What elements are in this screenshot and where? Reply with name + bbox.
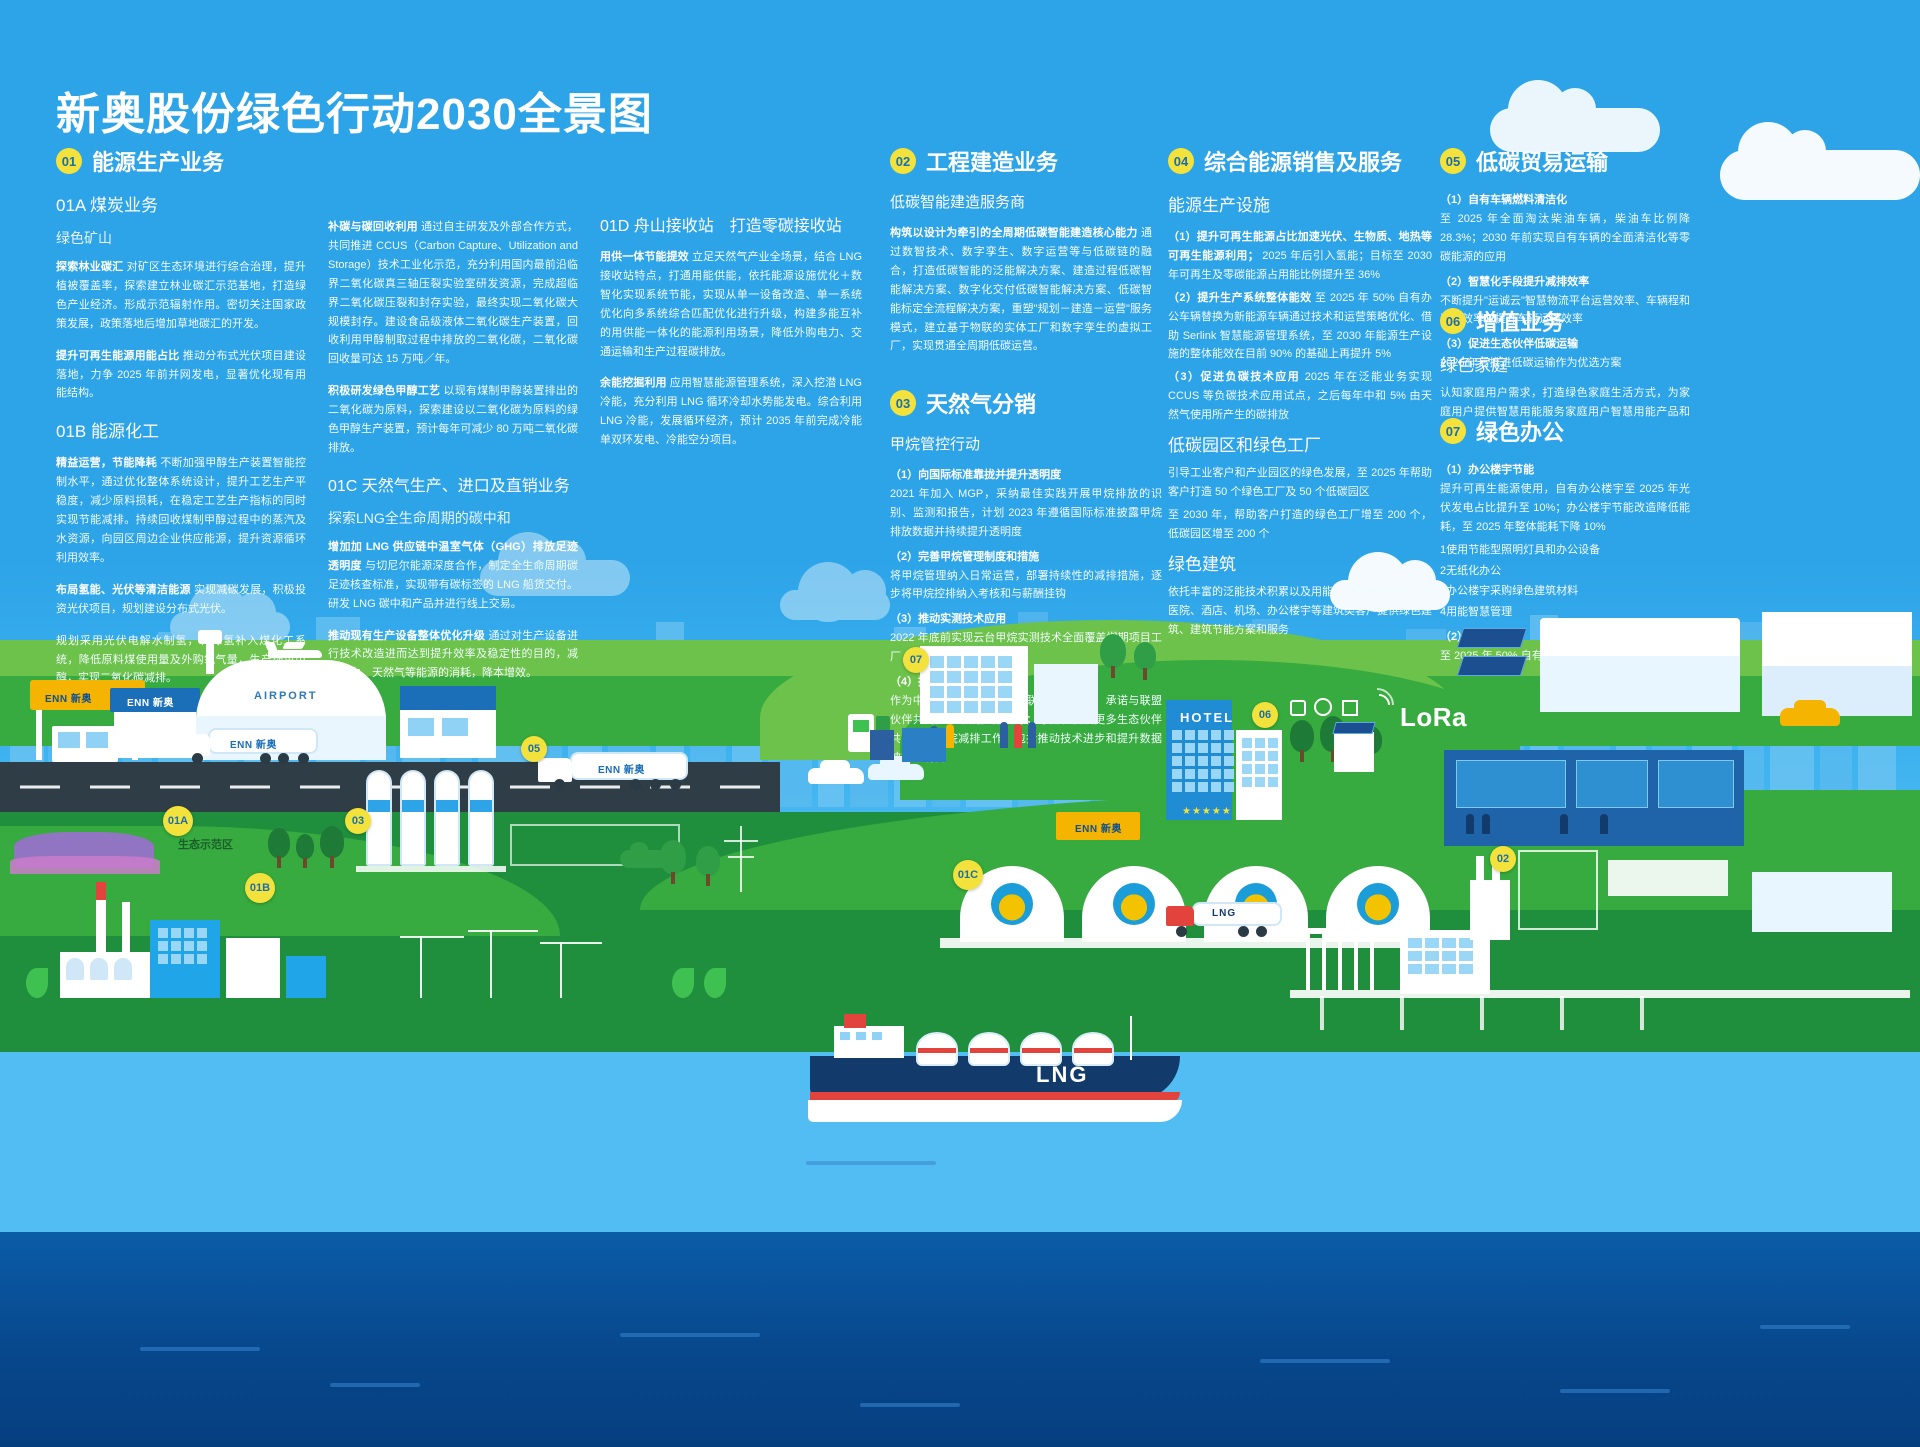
paragraph-lead: 积极研发绿色甲醇工艺 [328,385,440,397]
section-04-header: 04 综合能源销售及服务 [1168,145,1432,177]
truck-enn-logo: ENN 新奥 [230,736,277,751]
paragraph-body: 将甲烷管理纳入日常运营，部署持续性的减排措施，逐步将甲烷控排纳入考核和与薪酬挂钩 [890,570,1162,601]
canopy-post [36,710,42,760]
block-01a-title: 01A 煤炭业务 [56,191,306,216]
paragraph-lead: 余能挖掘利用 [600,377,667,389]
industrial-block [1752,872,1892,932]
paragraph-lead: （1）向国际标准靠拢并提升透明度 [890,469,1061,481]
paragraph: 增加加 LNG 供应链中温室气体（GHG）排放足迹透明度 与切尼尔能源深度合作，… [328,538,578,614]
section-05-badge: 05 [1440,148,1466,174]
infographic-canvas: 新奥股份绿色行动2030全景图 01 能源生产业务 01A 煤炭业务 绿色矿山 … [0,0,1920,1447]
paragraph-lead: 推动现有生产设备整体优化升级 [328,630,485,642]
airplane-fuselage [268,650,322,658]
hedge-top [630,842,648,856]
section-04-sub-1: 能源生产设施 [1168,191,1432,216]
section-03-badge: 03 [890,390,916,416]
dashboard-screen [1658,760,1734,808]
paragraph: （1）自有车辆燃料清洁化至 2025 年全面淘汰柴油车辆，柴油车比例降 28.3… [1440,191,1690,267]
paragraph-lead: （2）提升生产系统整体能效 [1168,292,1312,304]
car [808,768,864,784]
paragraph-body: 3办公楼宇采购绿色建筑材料 [1440,585,1578,597]
paragraph: 至 2030 年，帮助客户打造的绿色工厂增至 200 个，低碳园区增至 200 … [1168,506,1432,544]
block-01b-title: 01B 能源化工 [56,417,306,442]
paragraph-body: 2无纸化办公 [1440,565,1501,577]
iot-icon [1342,700,1358,716]
paragraph-body: 引导工业客户和产业园区的绿色发展，至 2025 年帮助客户打造 50 个绿色工厂… [1168,467,1432,498]
paragraph: 探索林业碳汇 对矿区生态环境进行综合治理，提升植被覆盖率，探索建立林业碳汇示范基… [56,258,306,334]
iot-icon [1314,698,1332,716]
power-pylon [740,826,742,892]
person-figure [1000,722,1008,748]
charging-kiosk-2 [902,728,946,762]
section-06-badge: 06 [1440,308,1466,334]
shop-window [86,732,108,748]
section-02-subtitle: 低碳智能建造服务商 [890,191,1152,212]
pylon-arm [724,840,758,842]
paragraph: 3办公楼宇采购绿色建筑材料 [1440,582,1690,601]
section-07-title: 绿色办公 [1476,415,1564,447]
warehouse [1762,612,1912,666]
shop-window [58,732,80,748]
tree [296,834,314,868]
section-01-badge: 01 [56,148,82,174]
hotel-rating-stars: ★★★★★ [1182,806,1232,817]
paragraph: 2无纸化办公 [1440,562,1690,581]
container-enn-logo: ENN 新奥 [1075,820,1122,835]
crane-arm [400,936,464,938]
paragraph: 1使用节能型照明灯具和办公设备 [1440,541,1690,560]
block-01c-title: 01C 天然气生产、进口及直销业务 [328,472,578,496]
paragraph: （1）向国际标准靠拢并提升透明度2021 年加入 MGP，采纳最佳实践开展甲烷排… [890,466,1162,542]
paragraph-lead: 探索林业碳汇 [56,261,123,273]
paragraph: （2）提升生产系统整体能效 至 2025 年 50% 自有办公车辆替换为新能源车… [1168,289,1432,365]
section-02: 02 工程建造业务 低碳智能建造服务商 构筑以设计为牵引的全周期低碳智能建造核心… [890,145,1152,369]
leaf-icon [672,968,694,998]
tree [1290,720,1314,762]
plant-tank [66,958,84,980]
hotel-windows [1172,730,1234,792]
outlet-window [408,718,434,736]
paragraph: 依托丰富的泛能技术积累以及用能侧能源管理经验，为医院、酒店、机场、办公楼宇等建筑… [1168,583,1432,640]
enn-logo-text: ENN 新奥 [127,694,174,709]
paragraph-lead: （1）自有车辆燃料清洁化 [1440,194,1567,206]
charging-kiosk [870,730,894,760]
office-windows [930,656,1012,713]
paragraph-body: 与切尼尔能源深度合作，制定全生命周期碳足迹核查标准，实现带有碳标签的 LNG 船… [328,560,578,610]
person-figure [1014,724,1022,748]
paragraph-body: 2021 年加入 MGP，采纳最佳实践开展甲烷排放的识别、监测和报告，计划 20… [890,488,1162,538]
eco-zone-label: 生态示范区 [178,836,233,852]
plant-wing-2 [286,956,326,998]
operator-figure [1560,814,1568,834]
control-tower-top [198,630,222,644]
paragraph-body: 通过数智技术、数字孪生、数字运营等与低碳链的融合，打造低碳智能的泛能解决方案、建… [890,227,1152,352]
stack-cluster [1470,880,1510,940]
column-2: 补碳与碳回收利用 通过自主研发及外部合作方式，共同推进 CCUS（Carbon … [328,218,578,696]
paragraph-lead: 提升可再生能源用能占比 [56,350,179,362]
paragraph-lead: （2）智慧化手段提升减排效率 [1440,276,1589,288]
silo-base [356,866,506,872]
car-roof [820,760,850,770]
paragraph-body: 至 2025 年全面淘汰柴油车辆，柴油车比例降 28.3%；2030 年前实现自… [1440,213,1690,263]
person-figure [1028,722,1036,748]
crane-mast [420,936,422,998]
jetty-pile [1320,996,1324,1030]
solar-panel [1332,722,1375,734]
cloud-decoration [1720,150,1920,200]
paragraph-body: 至 2030 年，帮助客户打造的绿色工厂增至 200 个，低碳园区增至 200 … [1168,509,1432,540]
lng-silo [468,770,494,866]
iot-icon [1290,700,1306,716]
flower-field [10,856,160,874]
flare-frame [1518,850,1598,930]
map-pin-01c[interactable]: 01C [953,860,983,890]
office-annex [1034,664,1098,724]
paragraph-lead: 布局氢能、光伏等清洁能源 [56,584,191,596]
dashboard-screen [1576,760,1648,808]
block-01c-subtitle: 探索LNG全生命周期的碳中和 [328,508,578,528]
paragraph: 引导工业客户和产业园区的绿色发展，至 2025 年帮助客户打造 50 个绿色工厂… [1168,464,1432,502]
enn-logo-text: ENN 新奥 [45,690,92,705]
section-06-title: 增值业务 [1476,305,1564,337]
paragraph: 布局氢能、光伏等清洁能源 实现减碳发展，积极投资光伏项目，规划建设分布式光伏。 [56,581,306,619]
dashboard-screen [1456,760,1566,808]
lng-silo [400,770,426,866]
jetty-pile [1480,996,1484,1030]
map-pin-05[interactable]: 05 [521,736,547,762]
process-windows [1408,938,1473,974]
tree [268,828,290,868]
lora-label: LoRa [1400,702,1467,733]
paragraph-lead: （1）办公楼宇节能 [1440,464,1534,476]
enn-outlet-sign [400,686,496,710]
section-05-title: 低碳贸易运输 [1476,145,1608,177]
paragraph-lead: （3）推动实测技术应用 [890,613,1006,625]
paragraph: 补碳与碳回收利用 通过自主研发及外部合作方式，共同推进 CCUS（Carbon … [328,218,578,369]
green-house [1334,732,1374,772]
pipe-column [1338,934,1342,990]
paragraph: （1）提升可再生能源占比加速光伏、生物质、地热等可再生能源利用； 2025 年后… [1168,228,1432,285]
car [868,764,924,780]
pipe-column [1306,934,1310,990]
section-01-header: 01 能源生产业务 [56,145,306,177]
pipe-column [1322,934,1326,990]
paragraph-body: 1使用节能型照明灯具和办公设备 [1440,544,1600,556]
pipe-column [1370,934,1374,990]
paragraph-lead: 补碳与碳回收利用 [328,221,418,233]
ship-lng-label: LNG [1036,1062,1088,1088]
section-06-subtitle: 绿色家庭 [1440,351,1690,376]
tanker-lng-label: LNG [1212,908,1236,919]
solar-panel [1457,656,1527,676]
sea [0,1232,1920,1447]
airport-label: AIRPORT [254,690,318,702]
paragraph-lead: （2）完善甲烷管理制度和措施 [890,551,1039,563]
lng-road-tanker: LNG [1166,902,1282,932]
paragraph-body: 通过自主研发及外部合作方式，共同推进 CCUS（Carbon Capture、U… [328,221,578,365]
section-07-badge: 07 [1440,418,1466,444]
map-pin-01b[interactable]: 01B [245,873,275,903]
factory-body [1540,656,1740,712]
map-pin-03[interactable]: 03 [345,808,371,834]
operator-figure [1600,814,1608,834]
section-01: 01 能源生产业务 01A 煤炭业务 绿色矿山 探索林业碳汇 对矿区生态环境进行… [56,145,306,701]
jetty-deck [1290,990,1910,998]
section-04-sub-2: 低碳园区和绿色工厂 [1168,431,1432,456]
paragraph: （1）办公楼宇节能提升可再生能源使用，自有办公楼宇至 2025 年光伏发电占比提… [1440,461,1690,537]
page-title: 新奥股份绿色行动2030全景图 [56,78,653,142]
map-pin-06[interactable]: 06 [1252,702,1278,728]
paragraph-lead: 构筑以设计为牵引的全周期低碳智能建造核心能力 [890,227,1138,239]
tree [696,846,720,886]
lng-tanker-truck: ENN 新奥 [538,752,688,788]
tree [320,826,344,868]
paragraph: （3）促进负碳技术应用 2025 年在泛能业务实现 CCUS 等负碳技术应用试点… [1168,368,1432,425]
map-pin-01a[interactable]: 01A [163,806,193,836]
tree [1100,634,1126,678]
lng-silo [434,770,460,866]
section-02-badge: 02 [890,148,916,174]
control-tower-mast [206,640,214,674]
leaf-icon [26,968,48,998]
section-04: 04 综合能源销售及服务 能源生产设施 （1）提升可再生能源占比加速光伏、生物质… [1168,145,1432,652]
taxi [1780,708,1840,726]
paragraph: 积极研发绿色甲醇工艺 以现有煤制甲醇装置排出的二氧化碳为原料，探索建设以二氧化碳… [328,382,578,458]
section-05-header: 05 低碳贸易运输 [1440,145,1690,177]
paragraph-lead: 精益运营，节能降耗 [56,457,157,469]
stack [1476,856,1484,886]
tree [1134,642,1156,680]
crane-arm [540,942,602,944]
section-07-header: 07 绿色办公 [1440,415,1690,447]
person-figure [946,724,954,748]
taxi-roof [1794,700,1826,710]
plant-wing [226,938,280,998]
jetty-pile [1640,996,1644,1030]
truck-enn-logo: ENN 新奥 [598,761,645,776]
chimney-stripe [96,882,106,900]
section-03-title: 天然气分销 [926,387,1036,419]
paragraph: 用供一体节能提效 立足天然气产业全场景，结合 LNG 接收站特点，打通用能供能，… [600,248,862,361]
industrial-shed [1608,860,1728,896]
map-pin-02[interactable]: 02 [1490,846,1516,872]
paragraph: 余能挖掘利用 应用智慧能源管理系统，深入挖潜 LNG 冷能，充分利用 LNG 循… [600,374,862,450]
pylon-arm [728,856,754,858]
leaf-icon [704,968,726,998]
paragraph-body: 不断加强甲醇生产装置智能控制水平，通过优化整体系统设计，提升工艺生产平稳度，减少… [56,457,306,564]
block-01d-title: 01D 舟山接收站 打造零碳接收站 [600,212,862,236]
paragraph: 提升可再生能源用能占比 推动分布式光伏项目建设落地，力争 2025 年前并网发电… [56,347,306,404]
jetty-pile [1560,996,1564,1030]
paragraph: 精益运营，节能降耗 不断加强甲醇生产装置智能控制水平，通过优化整体系统设计，提升… [56,454,306,567]
crane-mast [490,930,492,998]
paragraph: （2）完善甲烷管理制度和措施将甲烷管理纳入日常运营，部署持续性的减排措施，逐步将… [890,548,1162,605]
block-01a-subtitle: 绿色矿山 [56,228,306,248]
paragraph-lead: 用供一体节能提效 [600,251,689,263]
outlet-window [442,718,468,736]
plant-tank [114,958,132,980]
paragraph-body: 立足天然气产业全场景，结合 LNG 接收站特点，打通用能供能，依托能源设施优化＋… [600,251,862,358]
section-02-title: 工程建造业务 [926,145,1058,177]
pipe-column [1354,934,1358,990]
section-02-header: 02 工程建造业务 [890,145,1152,177]
column-3: 01D 舟山接收站 打造零碳接收站 用供一体节能提效 立足天然气产业全场景，结合… [600,212,862,463]
section-04-title: 综合能源销售及服务 [1204,145,1402,177]
paragraph-body: 提升可再生能源使用，自有办公楼宇至 2025 年光伏发电占比提升至 10%；办公… [1440,483,1690,533]
operator-figure [1466,814,1474,834]
operator-figure [1482,814,1490,834]
lng-tanker-truck: ENN 新奥 [178,728,318,762]
airplane-wing [282,642,306,649]
paragraph: 构筑以设计为牵引的全周期低碳智能建造核心能力 通过数智技术、数字孪生、数字运营等… [890,224,1152,356]
solar-panel [1457,628,1527,648]
paragraph-lead: （3）促进负碳技术应用 [1168,371,1300,383]
paragraph-body: 依托丰富的泛能技术积累以及用能侧能源管理经验，为医院、酒店、机场、办公楼宇等建筑… [1168,586,1432,636]
crane-mast [560,942,562,998]
terminal-platform [940,938,1460,948]
hotel-label: HOTEL [1180,710,1234,725]
plant-windows [158,928,207,964]
section-01-title: 能源生产业务 [92,145,224,177]
annex-windows [1242,738,1278,787]
section-04-sub-3: 绿色建筑 [1168,550,1432,575]
map-pin-07[interactable]: 07 [903,647,929,673]
lng-carrier-ship: LNG [800,1010,1190,1120]
jetty-pile [1400,996,1404,1030]
section-06-header: 06 增值业务 [1440,305,1690,337]
section-03-header: 03 天然气分销 [890,387,1162,419]
charger-screen [853,720,869,732]
plant-tank [90,958,108,980]
section-03-subtitle: 甲烷管控行动 [890,433,1162,454]
crane-arm [468,930,538,932]
section-04-badge: 04 [1168,148,1194,174]
paragraph-body: 4用能智慧管理 [1440,606,1512,618]
